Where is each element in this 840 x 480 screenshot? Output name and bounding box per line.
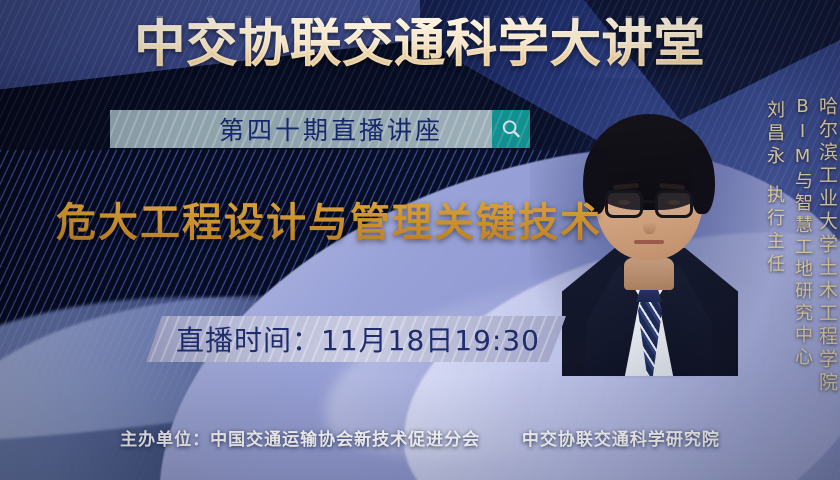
speaker-info: 哈尔滨工业大学土木工程学院 BIM与智慧工地研究中心 刘昌永 执行主任 [761,96,836,395]
speaker-research-center: BIM与智慧工地研究中心 [793,96,811,369]
portrait-eyeglass-left [605,190,643,218]
page-title: 中交协联交通科学大讲堂 [8,18,831,70]
schedule-label: 直播时间：11月18日19:30 [176,319,540,359]
footer-organizer: 主办单位：中国交通运输协会新技术促进分会 [120,430,480,450]
search-icon [500,118,522,140]
speaker-organization: 哈尔滨工业大学土木工程学院 [817,96,836,395]
footer-co-organizer: 中交协联交通科学研究院 [522,430,720,450]
speaker-role: 执行主任 [761,185,787,277]
portrait-eyeglass-right [655,190,693,218]
speaker-name: 刘昌永 [761,100,787,169]
speaker-identity: 刘昌永 执行主任 [761,100,787,277]
episode-banner-bar: 第四十期直播讲座 [110,110,492,148]
lecture-headline: 危大工程设计与管理关键技术 [56,190,602,248]
poster-canvas: 中交协联交通科学大讲堂 第四十期直播讲座 危大工程设计与管理关键技术 直播时间：… [0,0,840,480]
portrait-eyeglass-bridge [642,200,656,203]
episode-banner: 第四十期直播讲座 [110,110,530,148]
schedule-badge: 直播时间：11月18日19:30 [146,316,566,362]
portrait-neck [624,258,674,290]
portrait-mouth [634,240,664,244]
search-icon-tile[interactable] [492,110,530,148]
footer-organizers: 主办单位：中国交通运输协会新技术促进分会 中交协联交通科学研究院 [0,425,840,450]
portrait-nose [643,214,656,234]
episode-label: 第四十期直播讲座 [159,111,443,147]
